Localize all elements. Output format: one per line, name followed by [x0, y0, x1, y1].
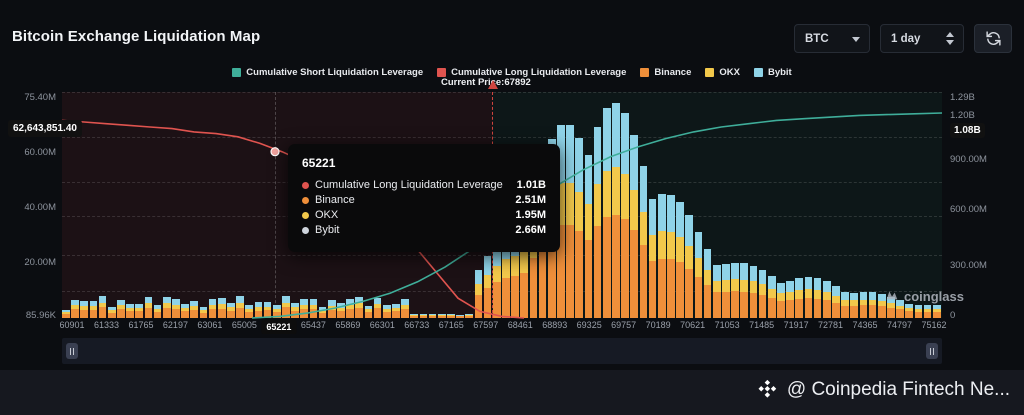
legend-swatch-icon [437, 68, 446, 77]
legend-label: Binance [654, 67, 691, 78]
widget-header: Bitcoin Exchange Liquidation Map BTC 1 d… [0, 0, 1024, 62]
x-axis: 6090161333617656219763061650056522165437… [0, 320, 1024, 336]
chevron-down-icon [852, 37, 860, 42]
hover-data-point [271, 148, 279, 156]
tooltip-dot-icon [302, 197, 309, 204]
x-axis-tick: 61333 [94, 320, 119, 330]
y-axis-right-tick: 1.20B [950, 110, 975, 121]
y-axis-right-tick: 300.00M [950, 260, 987, 271]
y-axis-left-tick: 20.00M [24, 257, 56, 268]
tooltip-title: 65221 [302, 156, 546, 170]
tooltip-label: Bybit [315, 224, 339, 236]
tooltip-dot-icon [302, 212, 309, 219]
y-axis-right-tick: 1.29B [950, 92, 975, 103]
x-axis-tick: 67597 [473, 320, 498, 330]
legend-swatch-icon [640, 68, 649, 77]
current-price-label: Current Price:67892 [441, 77, 531, 88]
tooltip-row: OKX 1.95M [302, 209, 546, 221]
x-axis-tick: 69757 [611, 320, 636, 330]
tooltip-label: Binance [315, 194, 355, 206]
x-axis-tick: 65005 [232, 320, 257, 330]
x-axis-tick: 72781 [818, 320, 843, 330]
tooltip-row: Cumulative Long Liquidation Leverage 1.0… [302, 179, 546, 191]
header-controls: BTC 1 day [794, 24, 1012, 53]
x-axis-tick: 62197 [163, 320, 188, 330]
x-axis-tick: 71053 [715, 320, 740, 330]
x-axis-tick: 68461 [508, 320, 533, 330]
range-handle-left[interactable] [66, 343, 78, 359]
x-axis-tick: 63061 [197, 320, 222, 330]
legend-item-binance[interactable]: Binance [640, 67, 691, 78]
x-axis-tick: 65437 [301, 320, 326, 330]
tooltip-value: 1.95M [515, 209, 546, 221]
tooltip-dot-icon [302, 182, 309, 189]
legend-label: Bybit [768, 67, 792, 78]
x-axis-tick: 71917 [784, 320, 809, 330]
x-axis-tick: 61765 [128, 320, 153, 330]
y-axis-left-tick: 40.00M [24, 202, 56, 213]
coinglass-logo-icon [884, 288, 900, 304]
timerange-stepper[interactable]: 1 day [880, 24, 964, 53]
legend-label: Cumulative Short Liquidation Leverage [246, 67, 423, 78]
x-axis-tick: 66301 [370, 320, 395, 330]
tooltip-row: Bybit 2.66M [302, 224, 546, 236]
refresh-icon [985, 30, 1002, 47]
tooltip-value: 2.66M [515, 224, 546, 236]
chart-legend: Cumulative Short Liquidation Leverage Cu… [0, 64, 1024, 82]
x-axis-tick: 75162 [921, 320, 946, 330]
symbol-select-value: BTC [805, 33, 829, 45]
x-axis-tick: 74797 [887, 320, 912, 330]
legend-item-cumulative-short[interactable]: Cumulative Short Liquidation Leverage [232, 67, 423, 78]
tooltip-value: 1.01B [517, 179, 546, 191]
range-handle-right[interactable] [926, 343, 938, 359]
coinglass-watermark: coinglass [884, 288, 964, 304]
y-axis-left-tick: 75.40M [24, 92, 56, 103]
tooltip-value: 2.51M [515, 194, 546, 206]
x-axis-tick: 60901 [59, 320, 84, 330]
stepper-arrows-icon[interactable] [946, 32, 954, 45]
x-axis-tick: 65869 [335, 320, 360, 330]
watermark-text: coinglass [904, 289, 964, 304]
current-price-arrow-icon [488, 80, 498, 89]
legend-label: OKX [719, 67, 740, 78]
right-axis-value-badge: 1.08B [950, 123, 985, 138]
x-axis-tick: 69325 [577, 320, 602, 330]
legend-swatch-icon [232, 68, 241, 77]
page-title: Bitcoin Exchange Liquidation Map [12, 28, 260, 45]
legend-item-okx[interactable]: OKX [705, 67, 740, 78]
x-axis-tick: 66733 [404, 320, 429, 330]
bottom-banner: @ Coinpedia Fintech Ne... [0, 370, 1024, 415]
tooltip-label: Cumulative Long Liquidation Leverage [315, 179, 503, 191]
timerange-value: 1 day [891, 33, 920, 45]
chart-tooltip: 65221 Cumulative Long Liquidation Levera… [288, 144, 560, 252]
y-axis-right-tick: 900.00M [950, 154, 987, 165]
diamond-cluster-icon [756, 379, 778, 401]
symbol-select[interactable]: BTC [794, 24, 870, 53]
y-axis-right-tick: 600.00M [950, 204, 987, 215]
x-axis-tick-selected: 65221 [261, 320, 296, 334]
x-axis-tick: 74365 [853, 320, 878, 330]
legend-swatch-icon [754, 68, 763, 77]
tooltip-dot-icon [302, 227, 309, 234]
tooltip-label: OKX [315, 209, 338, 221]
refresh-button[interactable] [974, 24, 1012, 53]
legend-item-bybit[interactable]: Bybit [754, 67, 792, 78]
range-slider[interactable] [62, 338, 942, 364]
y-axis-left-tick: 60.00M [24, 147, 56, 158]
x-axis-tick: 70189 [646, 320, 671, 330]
liquidation-map-widget: Bitcoin Exchange Liquidation Map BTC 1 d… [0, 0, 1024, 415]
banner-text: @ Coinpedia Fintech Ne... [787, 379, 1010, 401]
left-axis-value-badge: 62,643,851.40 [8, 120, 82, 137]
x-axis-tick: 70621 [680, 320, 705, 330]
x-axis-tick: 71485 [749, 320, 774, 330]
tooltip-row: Binance 2.51M [302, 194, 546, 206]
x-axis-tick: 68893 [542, 320, 567, 330]
x-axis-tick: 67165 [439, 320, 464, 330]
legend-swatch-icon [705, 68, 714, 77]
